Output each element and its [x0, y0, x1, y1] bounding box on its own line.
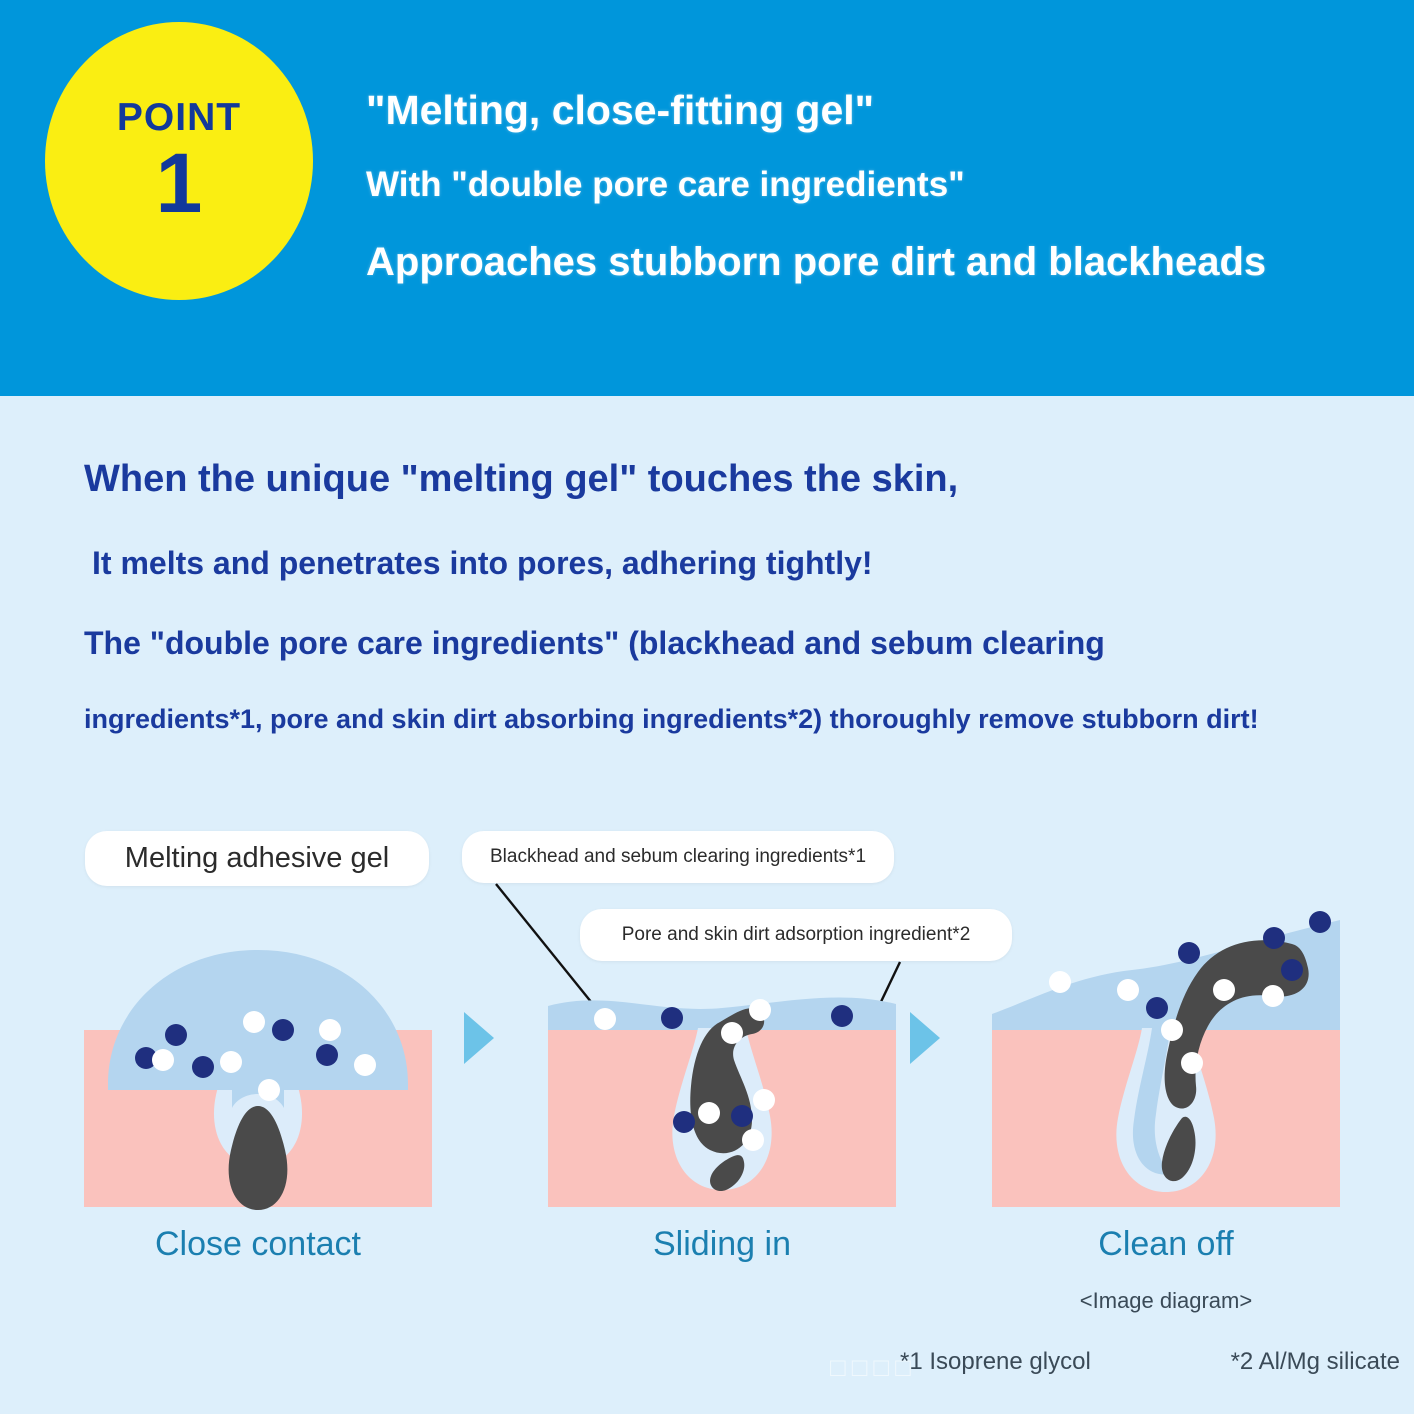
intro-line-3: The "double pore care ingredients" (blac… [84, 625, 1354, 662]
panel-2-illustration [548, 910, 896, 1210]
header-line-2: With "double pore care ingredients" [366, 167, 1366, 202]
header-headline-group: "Melting, close-fitting gel" With "doubl… [366, 90, 1366, 282]
callout-melting-adhesive-gel: Melting adhesive gel [85, 831, 429, 886]
point-badge: POINT 1 [45, 22, 313, 300]
panel-2-stage [548, 1030, 896, 1207]
arrow-icon-step-2-to-3 [910, 1012, 940, 1064]
panel-2-caption: Sliding in [548, 1225, 896, 1264]
header-banner: POINT 1 "Melting, close-fitting gel" Wit… [0, 0, 1414, 396]
footnotes: *1 Isoprene glycol *2 Al/Mg silicate [900, 1348, 1400, 1376]
arrow-icon-step-1-to-2 [464, 1012, 494, 1064]
header-line-3: Approaches stubborn pore dirt and blackh… [366, 242, 1366, 282]
panel-1-caption: Close contact [84, 1225, 432, 1264]
image-diagram-note: <Image diagram> [992, 1288, 1340, 1314]
panel-3-stage [992, 1030, 1340, 1207]
header-line-1: "Melting, close-fitting gel" [366, 90, 1366, 131]
intro-copy: When the unique "melting gel" touches th… [84, 458, 1354, 735]
panel-3-caption: Clean off [992, 1225, 1340, 1264]
footnote-2: *2 Al/Mg silicate [1231, 1348, 1400, 1376]
callout-blackhead-ingredient: Blackhead and sebum clearing ingredients… [462, 831, 894, 883]
footnote-1: *1 Isoprene glycol [900, 1348, 1091, 1376]
panel-1-stage [84, 1030, 432, 1207]
intro-line-1: When the unique "melting gel" touches th… [84, 458, 1354, 501]
intro-line-2: It melts and penetrates into pores, adhe… [92, 545, 1354, 582]
panel-3-illustration [992, 910, 1340, 1210]
panel-1-illustration [84, 910, 432, 1210]
point-badge-word: POINT [117, 98, 241, 137]
point-1-infographic: POINT 1 "Melting, close-fitting gel" Wit… [0, 0, 1414, 1414]
point-badge-number: 1 [156, 141, 203, 225]
intro-line-4: ingredients*1, pore and skin dirt absorb… [84, 704, 1354, 735]
